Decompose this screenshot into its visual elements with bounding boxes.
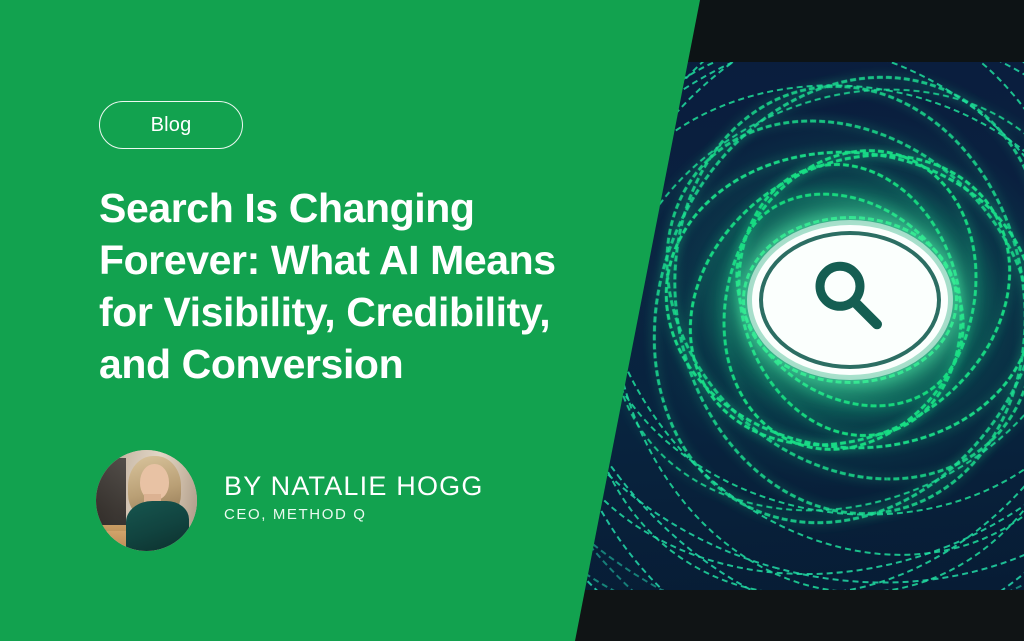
avatar: [96, 450, 197, 551]
author-role: CEO, METHOD Q: [224, 504, 484, 526]
author-byline: BY NATALIE HOGG CEO, METHOD Q: [96, 450, 484, 551]
category-badge-blog[interactable]: Blog: [99, 101, 243, 149]
lens-disc: [752, 225, 948, 375]
hero-content: Blog Search Is Changing Forever: What AI…: [0, 0, 640, 641]
author-name: BY NATALIE HOGG: [224, 471, 484, 501]
byline-text: BY NATALIE HOGG CEO, METHOD Q: [224, 471, 484, 530]
avatar-backdrop-shadow: [96, 458, 126, 531]
blog-hero-banner: Blog Search Is Changing Forever: What AI…: [0, 0, 1024, 641]
magnifying-glass-icon: [807, 255, 893, 341]
page-title: Search Is Changing Forever: What AI Mean…: [99, 182, 609, 390]
category-badge-label: Blog: [151, 114, 192, 137]
avatar-top: [126, 501, 189, 552]
